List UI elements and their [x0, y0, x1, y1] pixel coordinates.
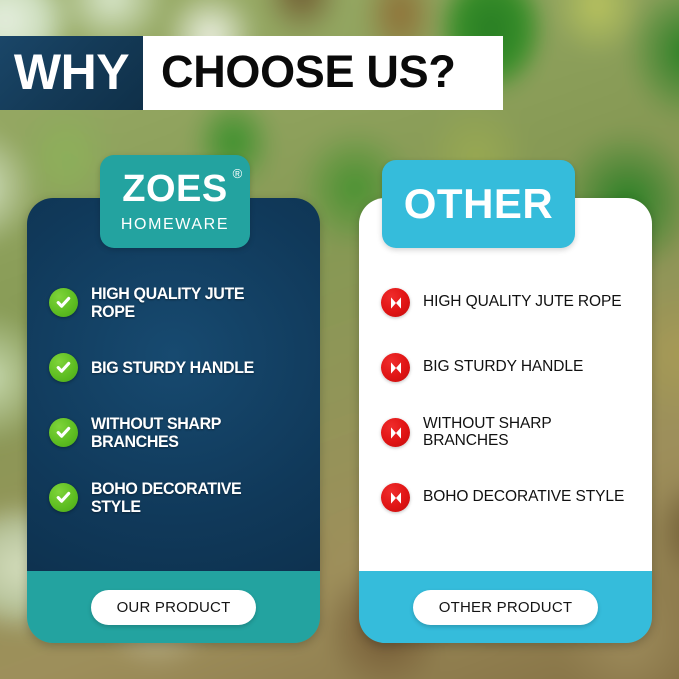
cross-circle-icon [381, 353, 410, 382]
list-item: BOHO DECORATIVE STYLE [381, 465, 636, 530]
zoes-wordmark: ZOES ® [122, 170, 227, 208]
header-banner: WHY CHOOSE US? [0, 36, 503, 110]
feature-label: BIG STURDY HANDLE [91, 359, 254, 377]
feature-label: WITHOUT SHARP BRANCHES [423, 416, 630, 450]
check-circle-icon [49, 288, 78, 317]
list-item: BIG STURDY HANDLE [49, 335, 304, 400]
list-item: WITHOUT SHARP BRANCHES [381, 400, 636, 465]
our-product-footer: OUR PRODUCT [27, 571, 320, 643]
feature-label: HIGH QUALITY JUTE ROPE [423, 294, 622, 311]
cross-circle-icon [381, 288, 410, 317]
other-product-button[interactable]: OTHER PRODUCT [413, 590, 598, 625]
header-title-box: CHOOSE US? [143, 36, 503, 110]
feature-label: BIG STURDY HANDLE [423, 359, 583, 376]
list-item: BOHO DECORATIVE STYLE [49, 465, 304, 530]
zoes-subtitle: HOMEWARE [121, 217, 229, 233]
list-item: HIGH QUALITY JUTE ROPE [49, 270, 304, 335]
other-product-card: HIGH QUALITY JUTE ROPE BIG STURDY HANDLE… [359, 198, 652, 643]
header-highlight-box: WHY [0, 36, 143, 110]
cross-circle-icon [381, 483, 410, 512]
header-title: CHOOSE US? [161, 49, 456, 97]
check-circle-icon [49, 353, 78, 382]
registered-trademark-icon: ® [233, 167, 243, 180]
our-feature-list: HIGH QUALITY JUTE ROPE BIG STURDY HANDLE… [27, 270, 320, 530]
feature-label: HIGH QUALITY JUTE ROPE [91, 285, 291, 321]
check-circle-icon [49, 418, 78, 447]
other-product-footer: OTHER PRODUCT [359, 571, 652, 643]
header-highlight-word: WHY [14, 47, 129, 100]
other-wordmark: OTHER [404, 183, 554, 225]
other-feature-list: HIGH QUALITY JUTE ROPE BIG STURDY HANDLE… [359, 270, 652, 530]
other-brand-badge: OTHER [382, 160, 575, 248]
list-item: BIG STURDY HANDLE [381, 335, 636, 400]
other-product-card-body: HIGH QUALITY JUTE ROPE BIG STURDY HANDLE… [359, 198, 652, 571]
cross-circle-icon [381, 418, 410, 447]
our-product-card-body: HIGH QUALITY JUTE ROPE BIG STURDY HANDLE… [27, 198, 320, 571]
check-circle-icon [49, 483, 78, 512]
zoes-brand-badge: ZOES ® HOMEWARE [100, 155, 250, 248]
our-product-button[interactable]: OUR PRODUCT [91, 590, 257, 625]
our-product-card: HIGH QUALITY JUTE ROPE BIG STURDY HANDLE… [27, 198, 320, 643]
feature-label: BOHO DECORATIVE STYLE [423, 489, 624, 506]
feature-label: BOHO DECORATIVE STYLE [91, 480, 291, 516]
feature-label: WITHOUT SHARP BRANCHES [91, 415, 291, 451]
zoes-wordmark-text: ZOES [122, 168, 227, 210]
comparison-infographic: WHY CHOOSE US? HIGH QUALITY JUTE ROPE [0, 0, 679, 679]
list-item: HIGH QUALITY JUTE ROPE [381, 270, 636, 335]
list-item: WITHOUT SHARP BRANCHES [49, 400, 304, 465]
